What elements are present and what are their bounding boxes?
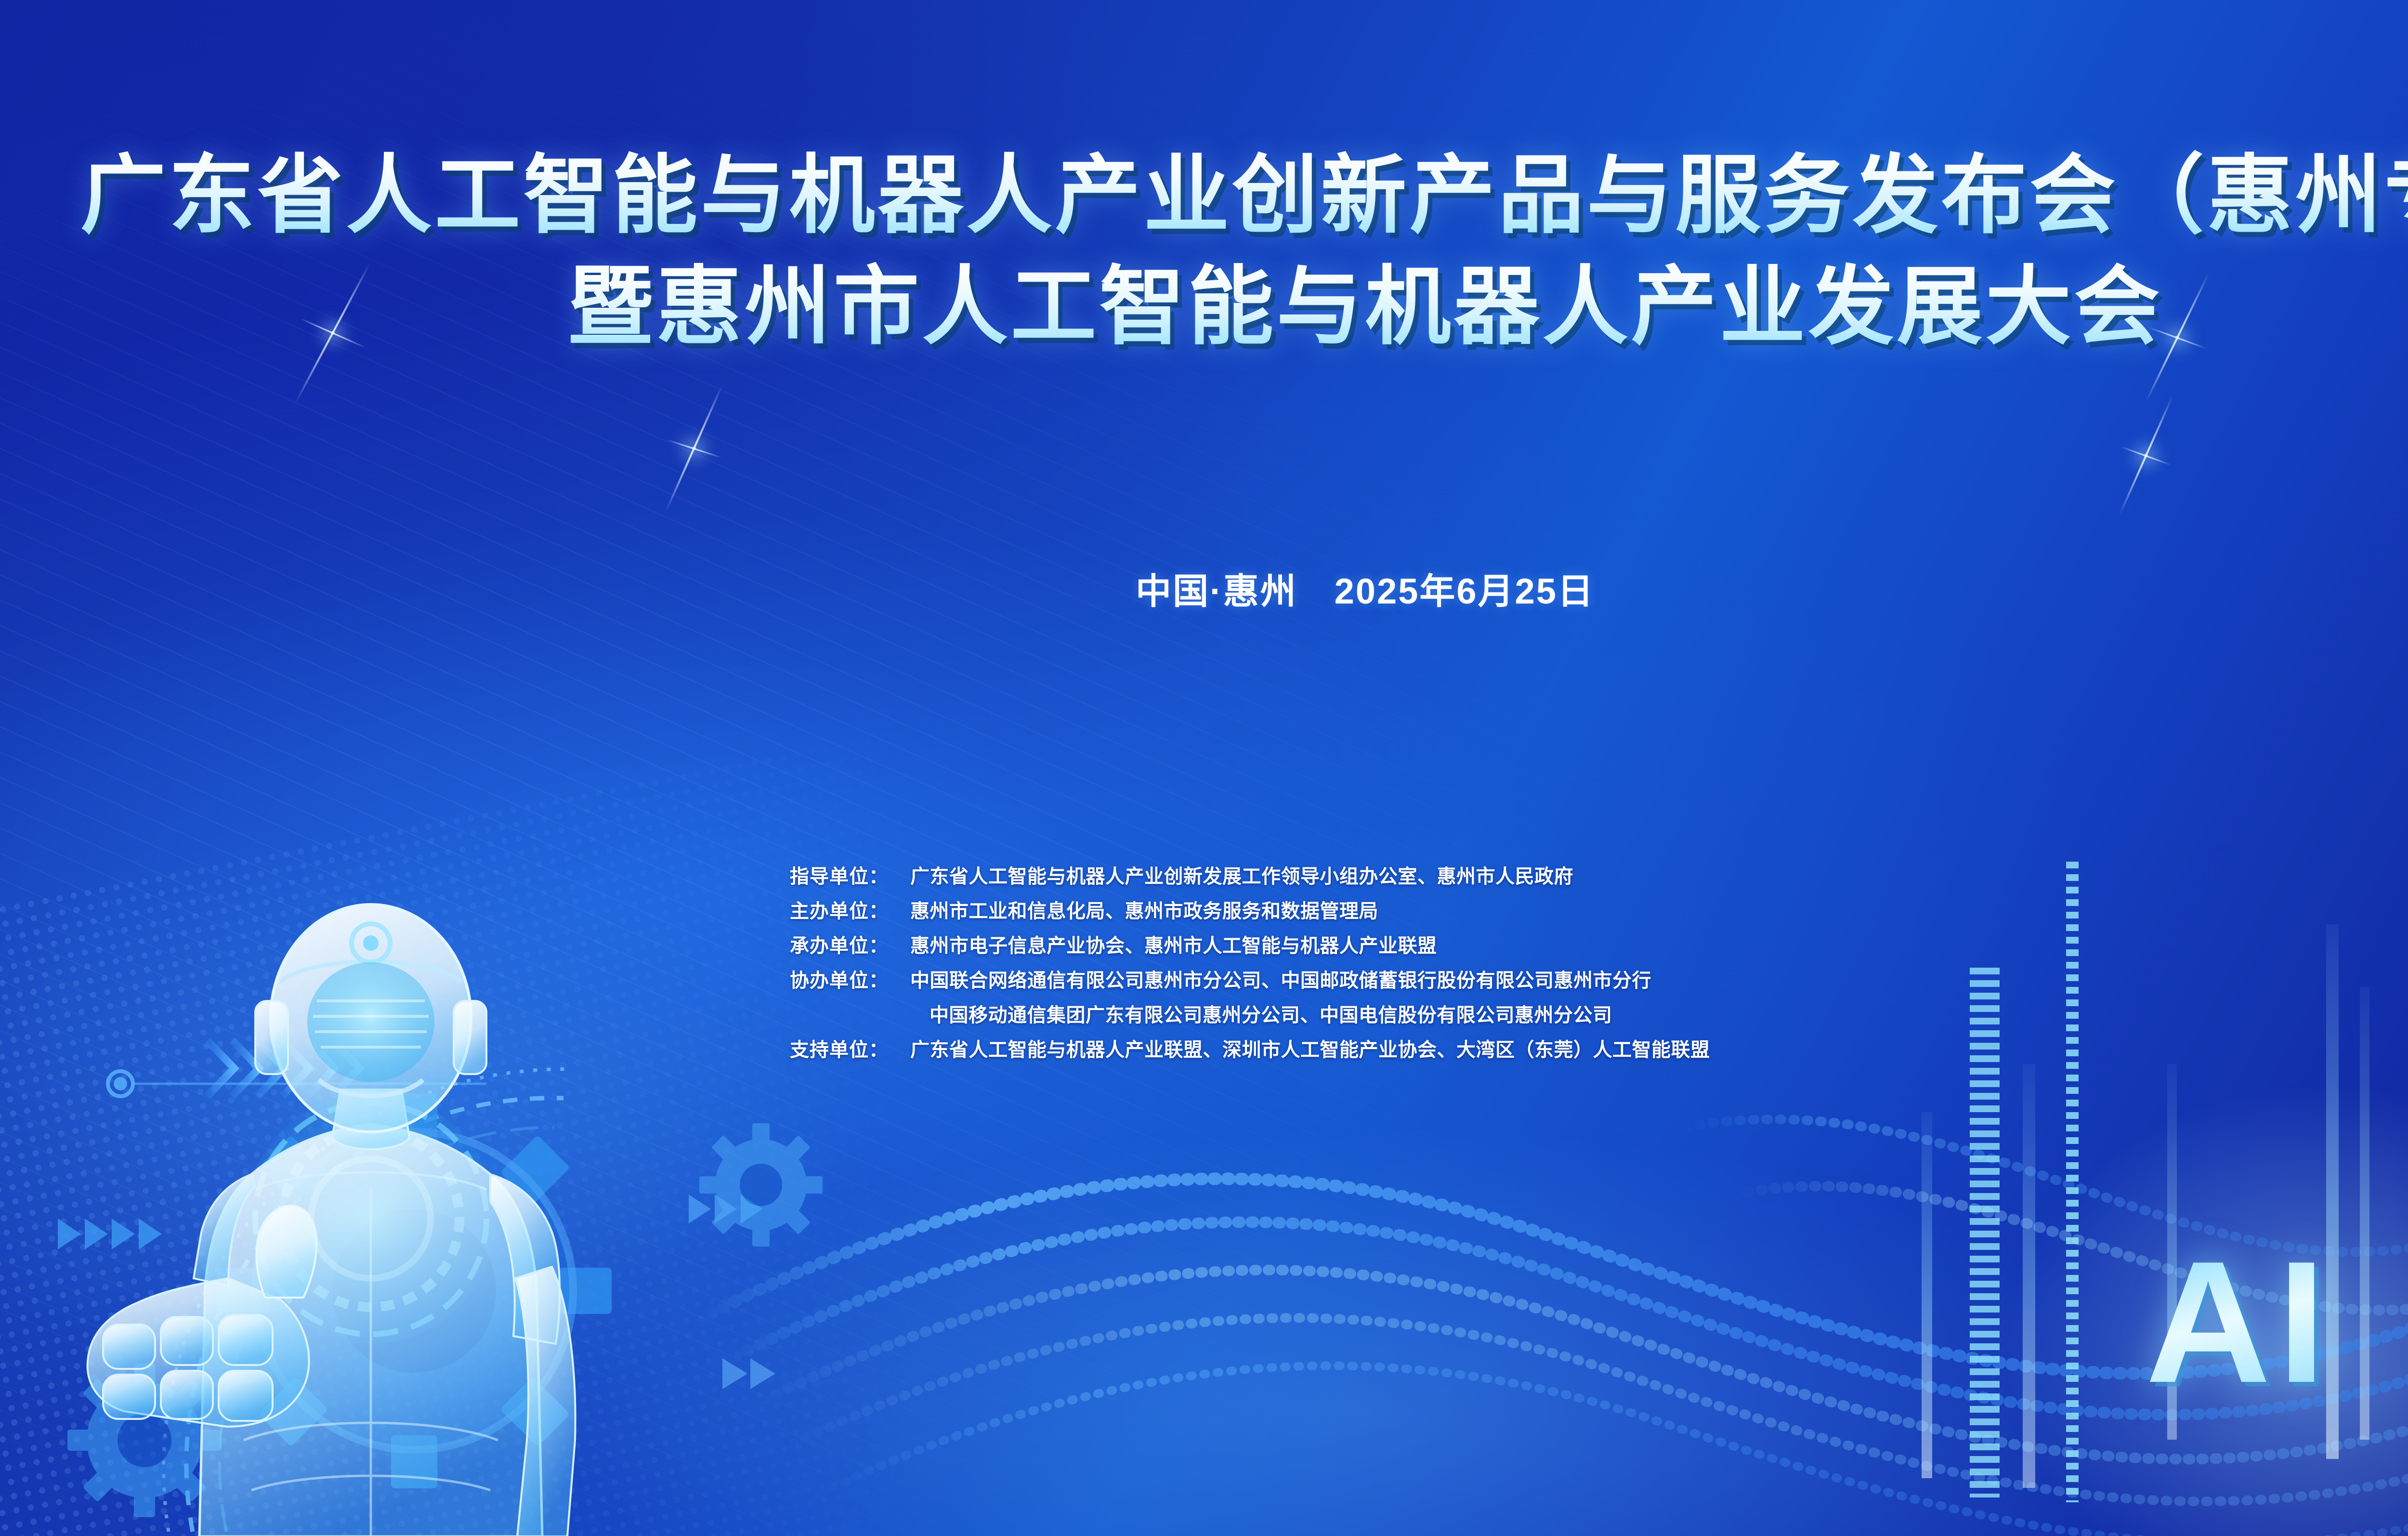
organizer-value: 中国联合网络通信有限公司惠州市分公司、中国邮政储蓄银行股份有限公司惠州市分行	[910, 971, 1651, 990]
organizer-row: 支持单位： 广东省人工智能与机器人产业联盟、深圳市人工智能产业协会、大湾区（东莞…	[790, 1040, 1710, 1060]
ai-logo: AI	[2146, 1235, 2332, 1409]
equalizer-bar	[1970, 968, 2000, 1497]
robot-ear-pod-left	[255, 1001, 288, 1074]
sparkle-icon-3	[694, 448, 694, 449]
organizer-label: 承办单位：	[790, 936, 910, 956]
organizer-row: 承办单位： 惠州市电子信息产业协会、惠州市人工智能与机器人产业联盟	[790, 936, 1710, 956]
organizer-value: 中国移动通信集团广东有限公司惠州分公司、中国电信股份有限公司惠州分公司	[929, 1006, 1612, 1025]
organizer-row: 协办单位： 中国联合网络通信有限公司惠州市分公司、中国邮政储蓄银行股份有限公司惠…	[790, 971, 1710, 990]
robot-head	[255, 905, 486, 1132]
sparkle-icon-4	[2146, 455, 2146, 456]
equalizer-bar	[2360, 987, 2369, 1440]
page-title-line-1: 广东省人工智能与机器人产业创新产品与服务发布会（惠州专场）	[0, 140, 2408, 251]
organizer-list: 指导单位： 广东省人工智能与机器人产业创新发展工作领导小组办公室、惠州市人民政府…	[790, 867, 1710, 1075]
organizer-label: 协办单位：	[790, 971, 910, 990]
organizer-row-continuation: 中国移动通信集团广东有限公司惠州分公司、中国电信股份有限公司惠州分公司	[929, 1006, 1710, 1025]
conference-banner: AI 广东省人工智能与机器人产业创新产品与服务发布会（惠州专场） 暨惠州市人工智…	[0, 0, 2408, 1536]
organizer-value: 广东省人工智能与机器人产业联盟、深圳市人工智能产业协会、大湾区（东莞）人工智能联…	[910, 1040, 1710, 1060]
bottom-glow	[491, 1106, 2238, 1536]
page-title-line-2: 暨惠州市人工智能与机器人产业发展大会	[0, 251, 2408, 362]
organizer-value: 广东省人工智能与机器人产业创新发展工作领导小组办公室、惠州市人民政府	[910, 867, 1573, 886]
organizer-row: 主办单位： 惠州市工业和信息化局、惠州市政务服务和数据管理局	[790, 902, 1710, 921]
equalizer-bar	[2023, 1064, 2035, 1488]
equalizer-bar	[1922, 1112, 1932, 1478]
organizer-value: 惠州市工业和信息化局、惠州市政务服务和数据管理局	[910, 902, 1378, 921]
organizer-label: 支持单位：	[790, 1040, 910, 1060]
robot-index-finger	[256, 1206, 316, 1298]
organizer-label: 主办单位：	[790, 902, 910, 921]
triangle-arrows-icon-2	[689, 1195, 763, 1223]
robot-face-visor	[307, 962, 434, 1082]
robot-ear-pod-right	[454, 1001, 486, 1074]
organizer-value: 惠州市电子信息产业协会、惠州市人工智能与机器人产业联盟	[910, 936, 1437, 956]
subtitle-location-date: 中国·惠州 2025年6月25日	[0, 563, 2408, 614]
humanoid-robot-graphic	[82, 901, 698, 1536]
title-block: 广东省人工智能与机器人产业创新产品与服务发布会（惠州专场） 暨惠州市人工智能与机…	[0, 140, 2408, 363]
gear-icon-right	[699, 1123, 823, 1247]
organizer-row: 指导单位： 广东省人工智能与机器人产业创新发展工作领导小组办公室、惠州市人民政府	[790, 867, 1710, 886]
organizer-label: 指导单位：	[790, 867, 910, 886]
equalizer-bar	[2066, 862, 2079, 1502]
triangle-arrows-icon-3	[722, 1358, 775, 1389]
